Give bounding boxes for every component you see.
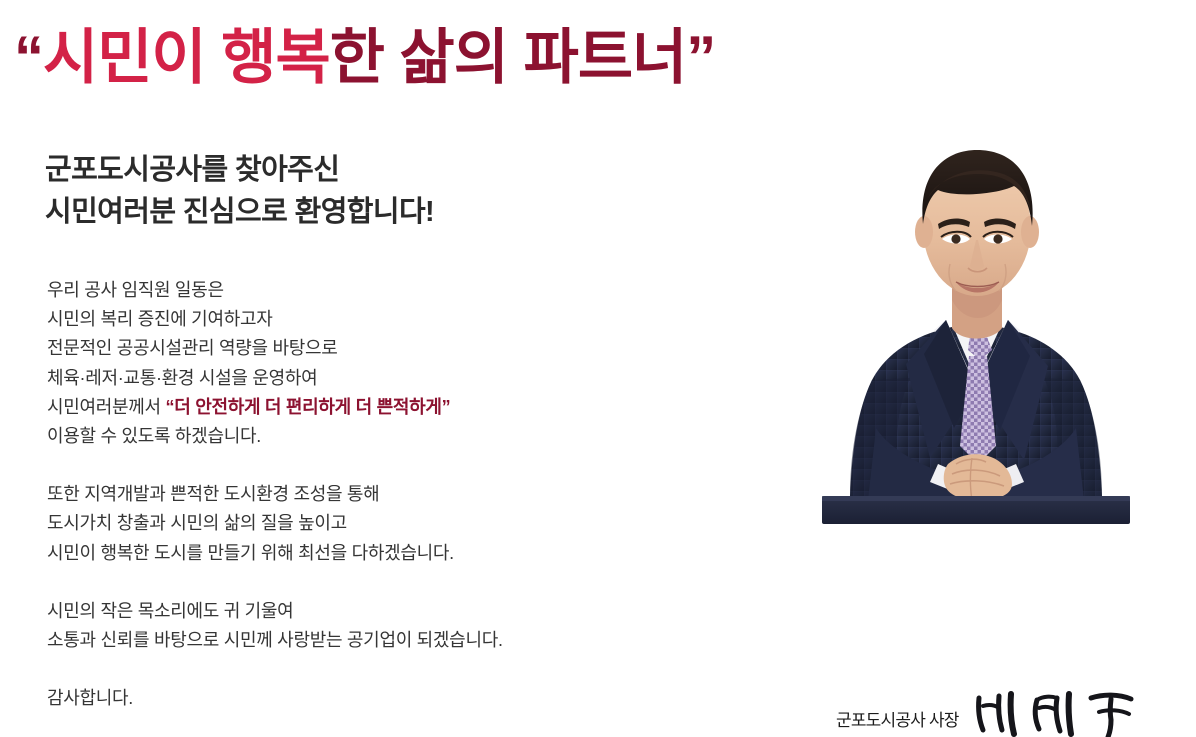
body-paragraph-1: 우리 공사 임직원 일동은 시민의 복리 증진에 기여하고자 전문적인 공공시설… xyxy=(47,276,767,451)
body-paragraph-3: 시민의 작은 목소리에도 귀 기울여 소통과 신뢰를 바탕으로 시민께 사랑받는… xyxy=(47,597,767,655)
paragraph-1-line-3: 전문적인 공공시설관리 역량을 바탕으로 xyxy=(47,334,767,363)
headline-close-quote: ” xyxy=(686,24,715,91)
paragraph-1-line-1: 우리 공사 임직원 일동은 xyxy=(47,276,767,305)
body-paragraph-4: 감사합니다. xyxy=(47,684,767,713)
paragraph-3-line-2: 소통과 신뢰를 바탕으로 시민께 사랑받는 공기업이 되겠습니다. xyxy=(47,626,767,655)
welcome-line-2: 시민여러분 진심으로 환영합니다! xyxy=(45,191,434,233)
paragraph-1-line-5: 시민여러분께서 “더 안전하게 더 편리하게 더 쁜적하게” xyxy=(47,393,767,422)
paragraph-2-line-3: 시민이 행복한 도시를 만들기 위해 최선을 다하겠습니다. xyxy=(47,539,767,568)
greeting-page: “시민이 행복한 삶의 파트너” 군포도시공사를 찾아주신 시민여러분 진심으로… xyxy=(0,0,1196,737)
slogan-emphasis: “더 안전하게 더 편리하게 더 쁜적하게” xyxy=(166,397,451,417)
portrait-illustration xyxy=(820,128,1132,550)
body-paragraph-2: 또한 지역개발과 쁜적한 도시환경 조성을 통해 도시가치 창출과 시민의 삶의… xyxy=(47,480,767,568)
closing-thanks: 감사합니다. xyxy=(47,684,767,713)
headline-segment-citizen: 시민이 xyxy=(43,24,221,91)
eye-right xyxy=(993,234,1002,243)
handwritten-signature xyxy=(971,684,1141,737)
paragraph-2-line-1: 또한 지역개발과 쁜적한 도시환경 조성을 통해 xyxy=(47,480,767,509)
welcome-heading: 군포도시공사를 찾아주신 시민여러분 진심으로 환영합니다! xyxy=(45,149,434,234)
headline-open-quote: “ xyxy=(14,24,43,91)
paragraph-3-line-1: 시민의 작은 목소리에도 귀 기울여 xyxy=(47,597,767,626)
paragraph-1-line-4: 체육·레저·교통·환경 시설을 운영하여 xyxy=(47,364,767,393)
paragraph-1-line-5-prefix: 시민여러분께서 xyxy=(47,397,166,417)
welcome-line-1: 군포도시공사를 찾아주신 xyxy=(45,149,434,191)
signature-block: 군포도시공사 사장 xyxy=(836,684,1141,737)
eye-left xyxy=(951,234,960,243)
paragraph-2-line-2: 도시가치 창출과 시민의 삶의 질을 높이고 xyxy=(47,509,767,538)
greeting-body: 우리 공사 임직원 일동은 시민의 복리 증진에 기여하고자 전문적인 공공시설… xyxy=(47,276,767,713)
paragraph-1-line-2: 시민의 복리 증진에 기여하고자 xyxy=(47,305,767,334)
signature-title: 군포도시공사 사장 xyxy=(836,706,959,737)
paragraph-1-line-6: 이용할 수 있도록 하겠습니다. xyxy=(47,422,767,451)
headline-segment-partner: 한 삶의 파트너 xyxy=(330,24,687,91)
page-headline: “시민이 행복한 삶의 파트너” xyxy=(14,26,715,89)
president-portrait-photo xyxy=(820,128,1132,550)
headline-segment-happy: 행복 xyxy=(221,24,329,91)
